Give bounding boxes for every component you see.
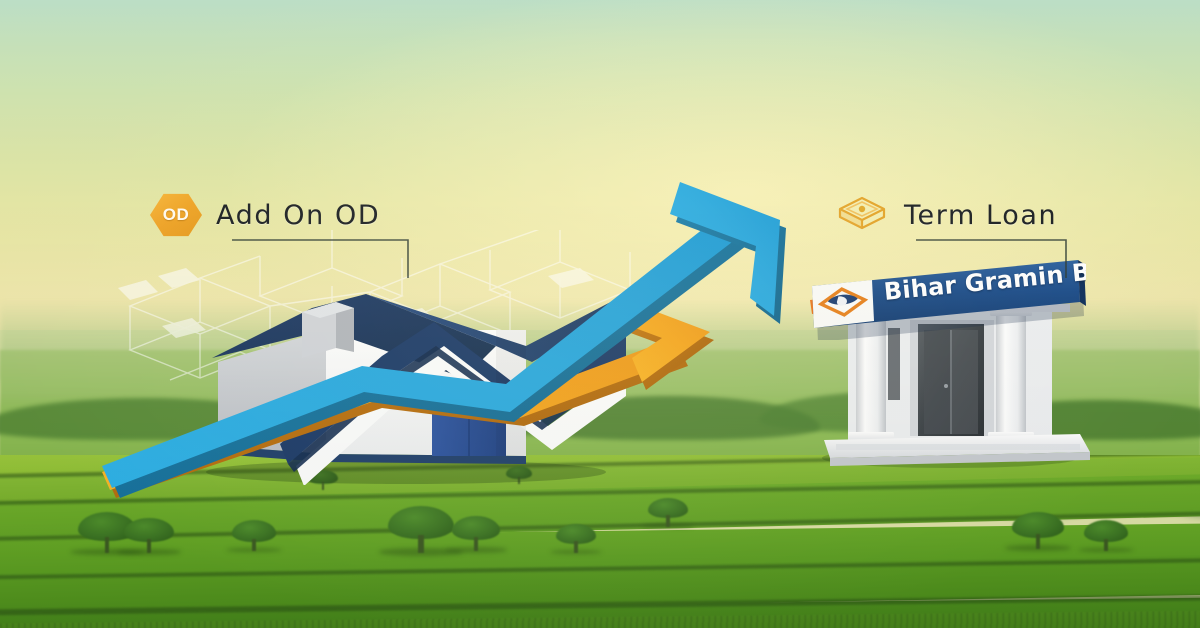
field-tree bbox=[1012, 512, 1064, 548]
field-tree bbox=[1084, 520, 1128, 550]
hexagon-od-icon: OD bbox=[150, 192, 202, 238]
leader-line-term-loan bbox=[916, 232, 1078, 278]
field-tree bbox=[124, 518, 174, 552]
od-badge-text: OD bbox=[163, 205, 190, 225]
callout-label-term-loan: Term Loan bbox=[904, 200, 1057, 231]
field-tree bbox=[232, 520, 276, 550]
callout-label-add-on-od: Add On OD bbox=[216, 200, 380, 231]
field-tree bbox=[388, 506, 454, 552]
field-tree bbox=[556, 524, 596, 552]
money-stack-icon bbox=[834, 192, 890, 238]
leader-line-add-on-od bbox=[232, 232, 424, 278]
field-tree bbox=[452, 516, 500, 550]
banner-canvas: Bihar Gramin Bank OD Add On OD Term bbox=[0, 0, 1200, 628]
field-tree bbox=[648, 498, 688, 526]
